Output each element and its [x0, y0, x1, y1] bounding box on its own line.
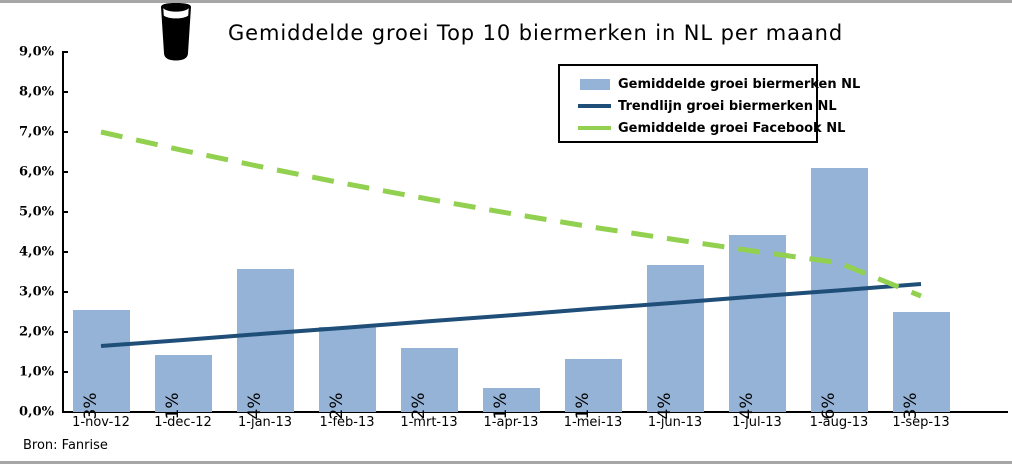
- bar[interactable]: 3%: [893, 312, 950, 412]
- bar[interactable]: 6%: [811, 168, 868, 412]
- bar[interactable]: 4%: [729, 235, 786, 412]
- chart-page: Gemiddelde groei Top 10 biermerken in NL…: [0, 0, 1012, 464]
- bar-slot: 4%: [237, 52, 294, 412]
- x-tick-label: 1-dec-12: [154, 415, 212, 430]
- bar[interactable]: 2%: [401, 348, 458, 412]
- y-tick-label: 3,0%: [19, 285, 54, 300]
- x-tick-label: 1-mrt-13: [400, 415, 457, 430]
- legend-swatch: [577, 98, 612, 114]
- bar[interactable]: 1%: [155, 355, 212, 412]
- x-tick-label: 1-jan-13: [238, 415, 292, 430]
- plot-area: 3%1%4%2%2%1%1%4%4%6%3%: [62, 52, 1008, 412]
- bar[interactable]: 1%: [483, 388, 540, 412]
- x-axis-tick-labels: 1-nov-121-dec-121-jan-131-feb-131-mrt-13…: [62, 415, 1008, 437]
- y-tick-label: 7,0%: [19, 125, 54, 140]
- bar-slot: 3%: [73, 52, 130, 412]
- legend-item-label: Gemiddelde groei Facebook NL: [612, 121, 845, 136]
- y-tick-label: 0,0%: [19, 405, 54, 420]
- y-tick-label: 6,0%: [19, 165, 54, 180]
- chart-title: Gemiddelde groei Top 10 biermerken in NL…: [228, 21, 843, 45]
- bar[interactable]: 4%: [237, 269, 294, 412]
- x-tick-label: 1-feb-13: [319, 415, 374, 430]
- bar-slot: 2%: [401, 52, 458, 412]
- bar[interactable]: 1%: [565, 359, 622, 412]
- y-tick-label: 1,0%: [19, 365, 54, 380]
- y-axis-tick-labels: 0,0%1,0%2,0%3,0%4,0%5,0%6,0%7,0%8,0%9,0%: [0, 52, 54, 413]
- legend-swatch: [577, 76, 612, 92]
- x-tick-label: 1-jun-13: [648, 415, 702, 430]
- x-tick-label: 1-sep-13: [892, 415, 949, 430]
- legend-item[interactable]: Gemiddelde groei Facebook NL: [560, 117, 816, 139]
- legend-color-box: [580, 79, 610, 90]
- x-tick-label: 1-apr-13: [484, 415, 539, 430]
- bar-slot: 3%: [893, 52, 950, 412]
- bar-slot: 2%: [319, 52, 376, 412]
- x-tick-label: 1-nov-12: [72, 415, 130, 430]
- legend-swatch: [577, 120, 612, 136]
- chart-legend: Gemiddelde groei biermerken NLTrendlijn …: [558, 64, 818, 143]
- bar-slot: 1%: [155, 52, 212, 412]
- legend-color-line: [578, 126, 611, 130]
- bar[interactable]: 2%: [319, 327, 376, 412]
- y-tick-label: 5,0%: [19, 205, 54, 220]
- bar[interactable]: 4%: [647, 265, 704, 412]
- x-tick-label: 1-jul-13: [732, 415, 782, 430]
- bar-slot: 1%: [483, 52, 540, 412]
- x-tick-label: 1-mei-13: [564, 415, 622, 430]
- legend-item[interactable]: Gemiddelde groei biermerken NL: [560, 73, 816, 95]
- y-tick-label: 4,0%: [19, 245, 54, 260]
- y-tick-label: 2,0%: [19, 325, 54, 340]
- legend-item-label: Trendlijn groei biermerken NL: [612, 99, 837, 114]
- legend-color-line: [578, 104, 611, 108]
- y-tick-label: 9,0%: [19, 45, 54, 60]
- bar[interactable]: 3%: [73, 310, 130, 412]
- source-note: Bron: Fanrise: [23, 438, 108, 453]
- legend-item[interactable]: Trendlijn groei biermerken NL: [560, 95, 816, 117]
- top-frame-rule: [0, 0, 1012, 3]
- x-tick-label: 1-aug-13: [810, 415, 869, 430]
- legend-item-label: Gemiddelde groei biermerken NL: [612, 77, 860, 92]
- y-tick-label: 8,0%: [19, 85, 54, 100]
